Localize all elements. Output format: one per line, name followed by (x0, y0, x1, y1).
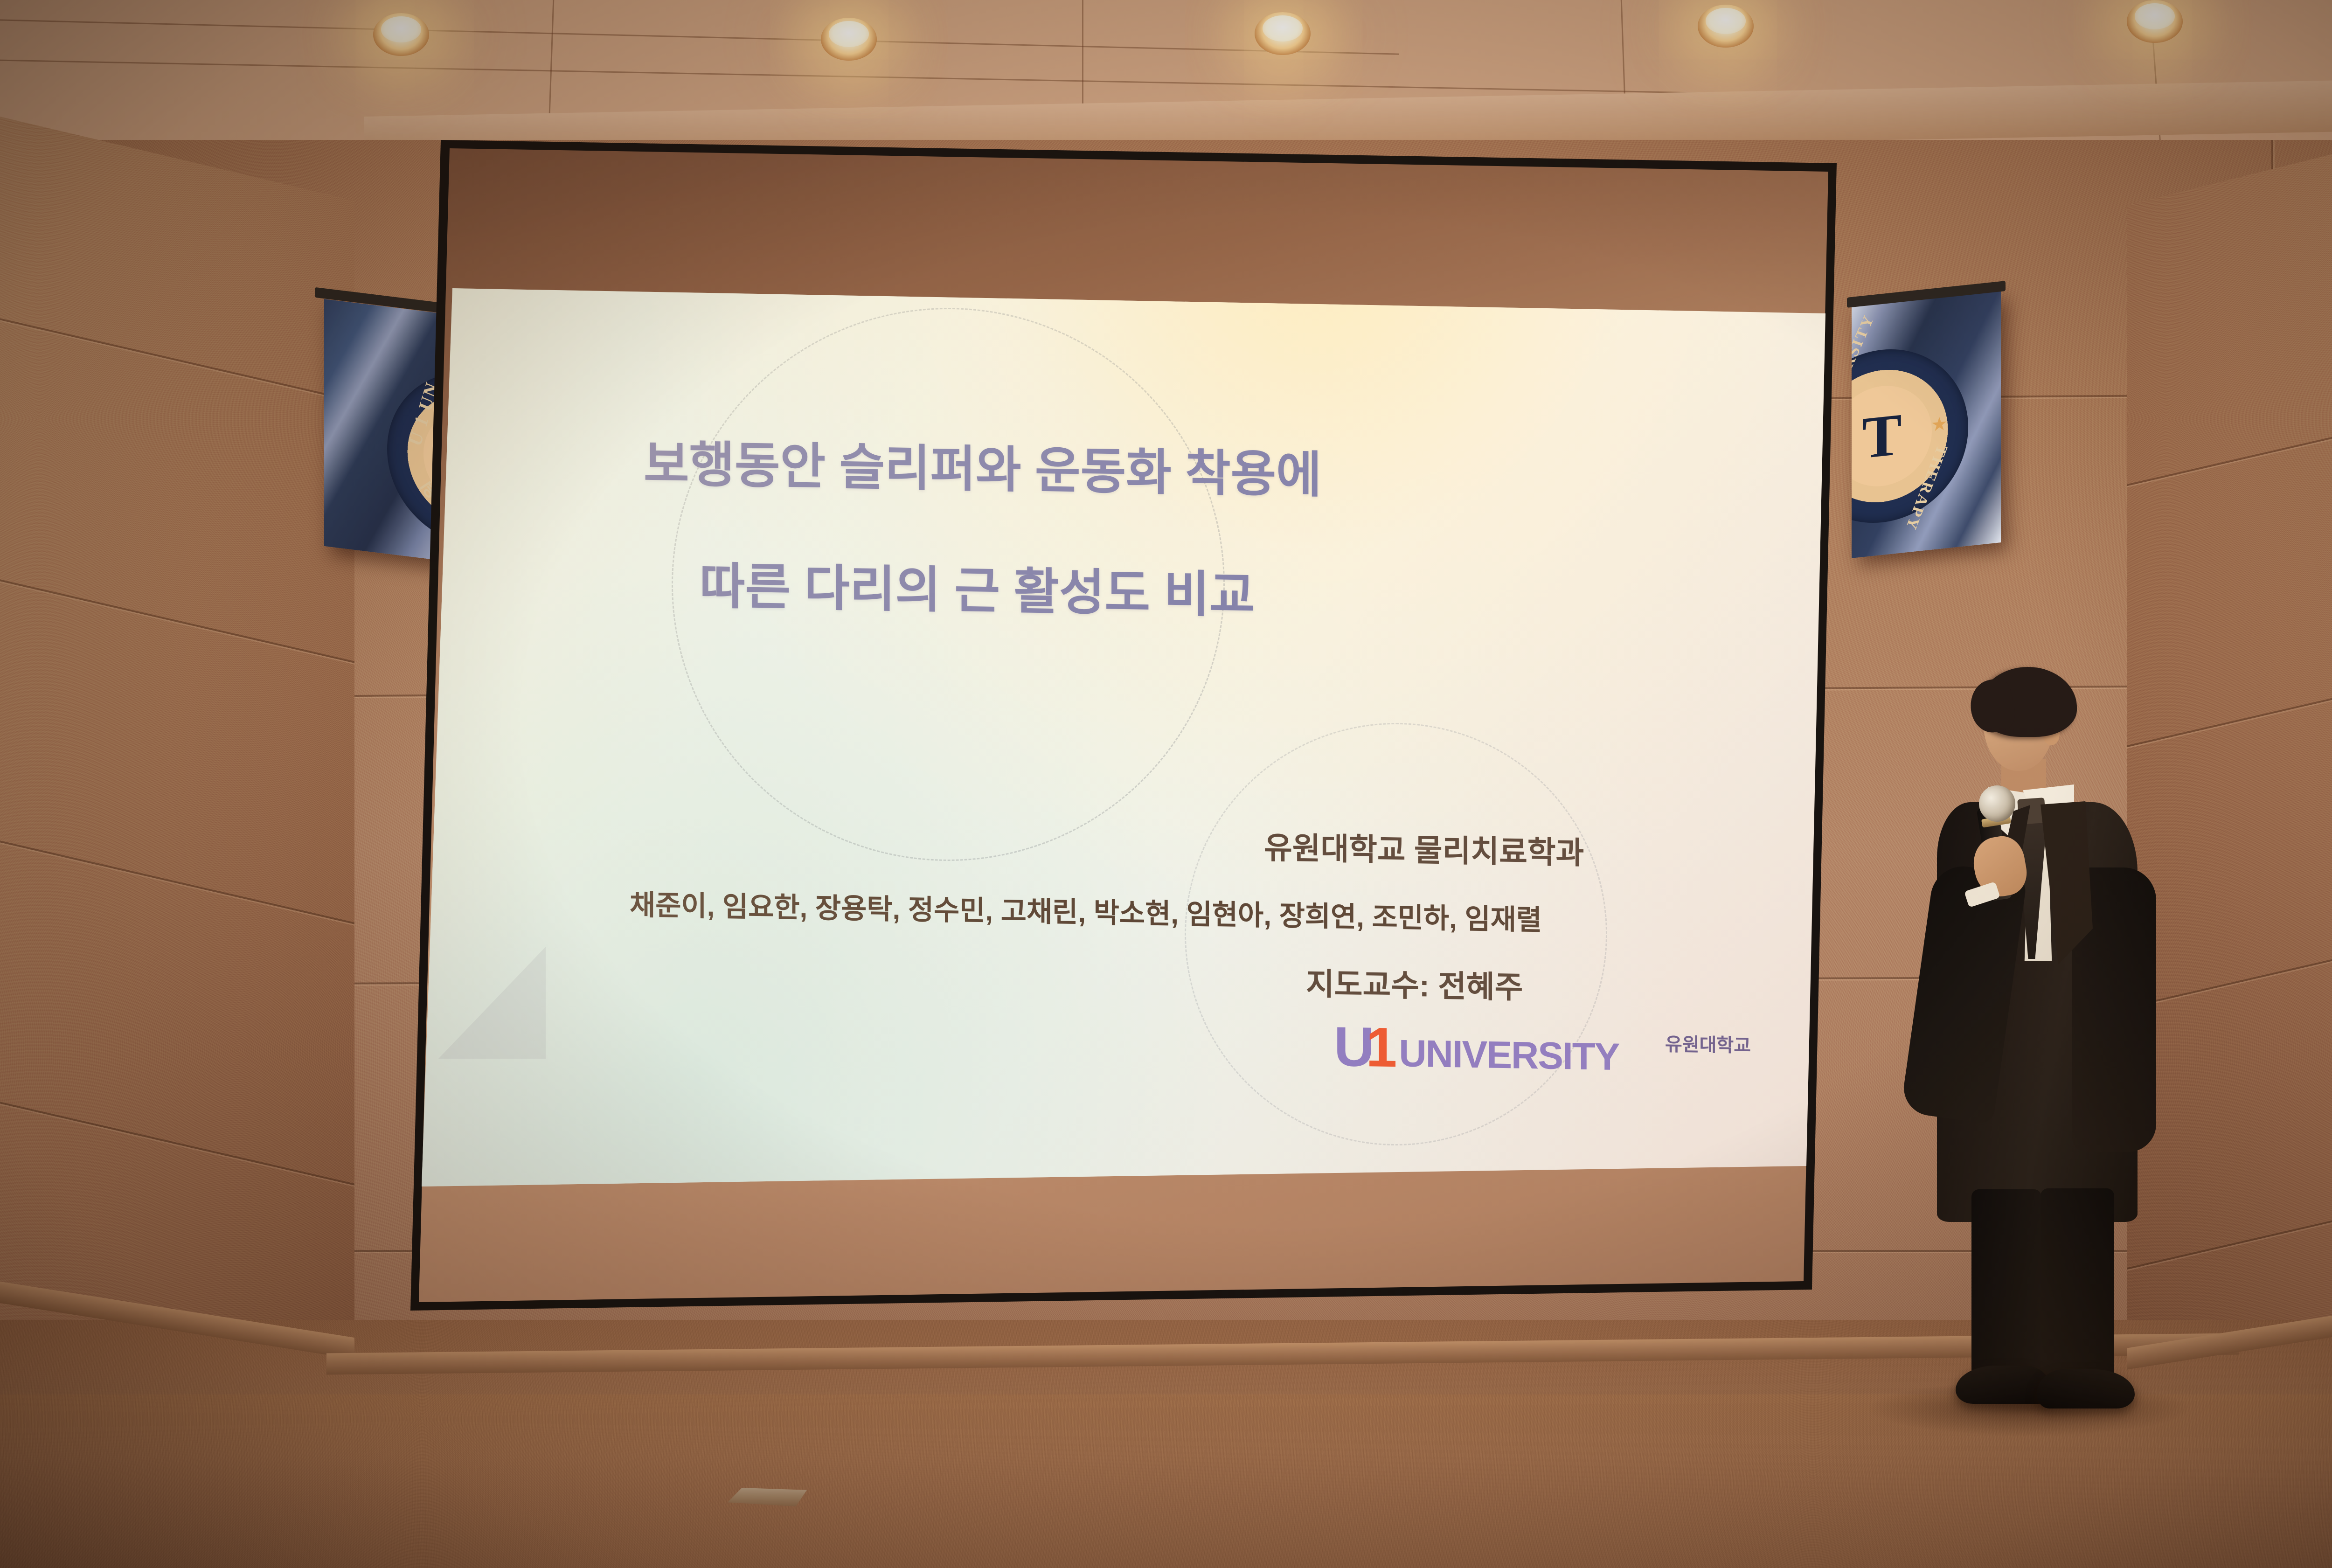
projection-screen: 보행동안 슬리퍼와 운동화 착용에 따른 다리의 근 활성도 비교 유원대학교 … (410, 140, 1870, 1334)
dress-shoe-right (2037, 1369, 2135, 1408)
presentation-scene: 원 U 1 UN T ⚕ ★ 2005 UNIVERSITY THERAPY (0, 0, 2332, 1568)
trouser-leg-right (2040, 1188, 2114, 1387)
slide-title-line2: 따른 다리의 근 활성도 비교 (700, 546, 1255, 627)
ceiling-seam (0, 19, 1399, 55)
slide-decoration-triangle (438, 947, 546, 1059)
ceiling-downlight (373, 13, 429, 56)
projected-slide: 보행동안 슬리퍼와 운동화 착용에 따른 다리의 근 활성도 비교 유원대학교 … (410, 140, 1870, 1334)
presenter (1901, 667, 2162, 1418)
banner-right-physical-therapy: T ⚕ ★ 2005 UNIVERSITY THERAPY (1852, 291, 2001, 558)
ceiling-downlight (1255, 12, 1311, 55)
u1-university-logo: U 1 UNIVERSITY (1334, 1024, 1619, 1075)
ceiling-downlight (1698, 5, 1754, 48)
logo-digit-one: 1 (1366, 1024, 1397, 1070)
logo-word-university: UNIVERSITY (1399, 1036, 1619, 1075)
slide-title-line1: 보행동안 슬리퍼와 운동화 착용에 (644, 423, 1322, 506)
logo-korean-name: 유원대학교 (1665, 1029, 1751, 1057)
slide-department: 유원대학교 물리치료학과 (1264, 823, 1584, 873)
trouser-leg-left (1971, 1189, 2041, 1385)
ceiling-downlight (821, 18, 877, 61)
left-wall (0, 117, 354, 1432)
wall-texture (0, 117, 354, 1432)
slide-advisor: 지도교수: 전혜주 (1306, 959, 1523, 1007)
ceiling-downlight (2127, 0, 2183, 43)
